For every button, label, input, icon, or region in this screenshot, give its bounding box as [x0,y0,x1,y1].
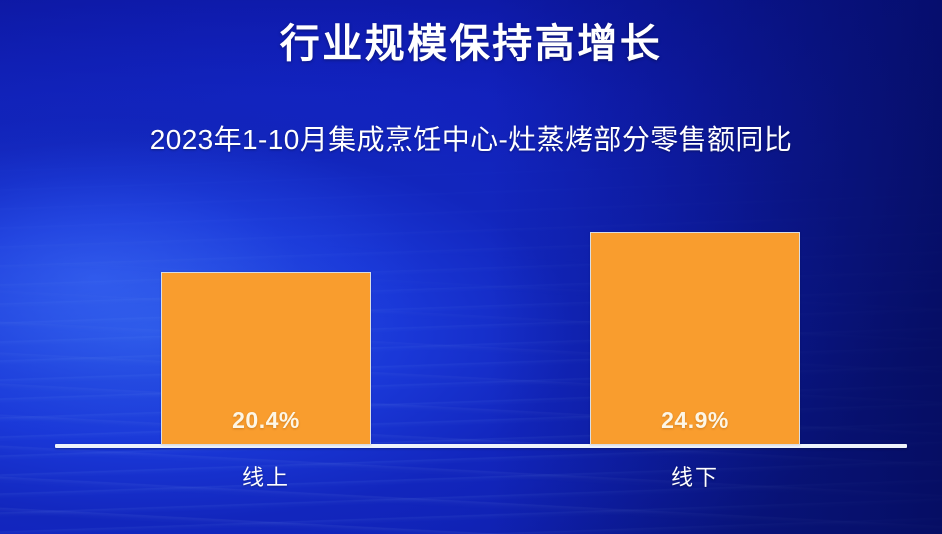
bar-offline[interactable]: 24.9% [590,232,800,445]
slide-canvas: 行业规模保持高增长 2023年1-10月集成烹饪中心-灶蒸烤部分零售额同比 20… [0,0,942,534]
category-label-online: 线上 [161,462,371,494]
bar-value-online: 20.4% [162,407,370,434]
bar-online[interactable]: 20.4% [161,272,371,445]
category-label-offline: 线下 [590,462,800,494]
bar-chart: 20.4% 24.9% 线上 线下 [0,0,942,534]
bar-value-offline: 24.9% [591,407,799,434]
